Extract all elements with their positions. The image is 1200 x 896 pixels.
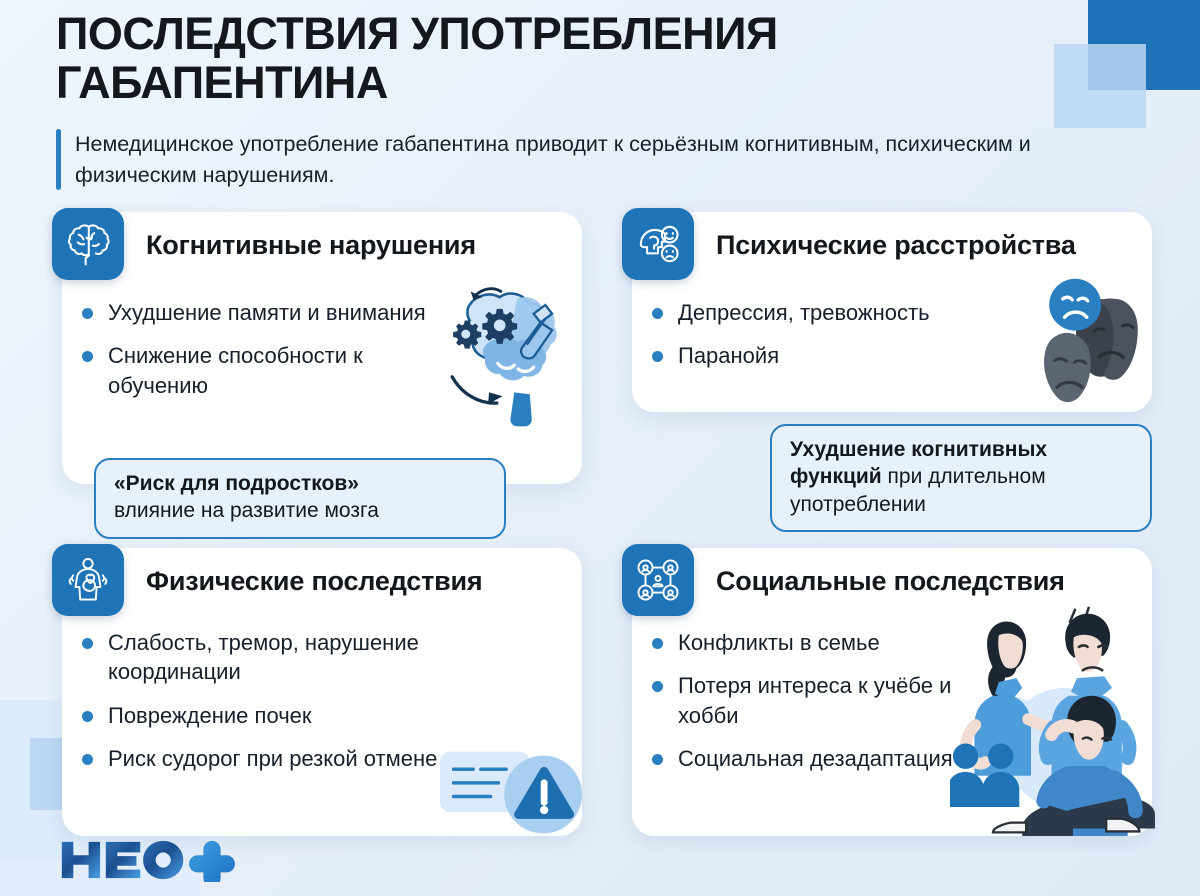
bullet-list-social: Конфликты в семье Потеря интереса к учёб… [650,628,980,774]
social-network-icon [622,544,694,616]
subtitle-block: Немедицинское употребление габапентина п… [56,129,1066,190]
page-title: ПОСЛЕДСТВИЯ УПОТРЕБЛЕНИЯ ГАБАПЕНТИНА [56,10,1066,107]
bullet-list-cognitive: Ухудшение памяти и внимания Снижение спо… [80,298,440,400]
list-item: Потеря интереса к учёбе и хобби [650,671,980,730]
brain-gears-illustration [425,272,590,432]
list-item: Конфликты в семье [650,628,980,657]
list-item: Депрессия, тревожность [650,298,1050,327]
callout-text: «Риск для подростков» влияние на развити… [114,470,486,525]
list-item: Слабость, тремор, нарушение координации [80,628,460,687]
brand-logo: НЕО+ [58,838,240,882]
list-item: Ухудшение памяти и внимания [80,298,440,327]
bullet-list-psychiatric: Депрессия, тревожность Паранойя [650,298,1050,371]
list-item: Паранойя [650,341,1050,370]
subtitle-accent-bar [56,129,61,190]
card-title-psychiatric: Психические расстройства [716,230,1076,261]
body-organs-icon [52,544,124,616]
infographic-poster: ПОСЛЕДСТВИЯ УПОТРЕБЛЕНИЯ ГАБАПЕНТИНА Нем… [0,0,1200,896]
callout-long-term-cognitive: Ухудшение когнитивных функций при длител… [770,424,1152,532]
page-subtitle: Немедицинское употребление габапентина п… [75,129,1035,190]
callout-text: Ухудшение когнитивных функций при длител… [790,436,1132,518]
list-item: Риск судорог при резкой отмене [80,744,460,773]
list-item: Повреждение почек [80,701,460,730]
bullet-list-physical: Слабость, тремор, нарушение координации … [80,628,460,774]
family-conflict-illustration [950,602,1155,836]
callout-teen-risk: «Риск для подростков» влияние на развити… [94,458,506,539]
list-item: Снижение способности к обучению [80,341,440,400]
warning-document-illustration [440,740,586,836]
card-title-physical: Физические последствия [146,566,483,597]
brain-icon [52,208,124,280]
decorative-square-light [1054,44,1146,128]
header: ПОСЛЕДСТВИЯ УПОТРЕБЛЕНИЯ ГАБАПЕНТИНА Нем… [56,10,1066,190]
list-item: Социальная дезадаптация [650,744,980,773]
card-title-social: Социальные последствия [716,566,1065,597]
callout-strong: «Риск для подростков» [114,472,359,495]
head-emotions-icon [622,208,694,280]
callout-rest: влияние на развитие мозга [114,499,379,522]
card-title-cognitive: Когнитивные нарушения [146,230,476,261]
